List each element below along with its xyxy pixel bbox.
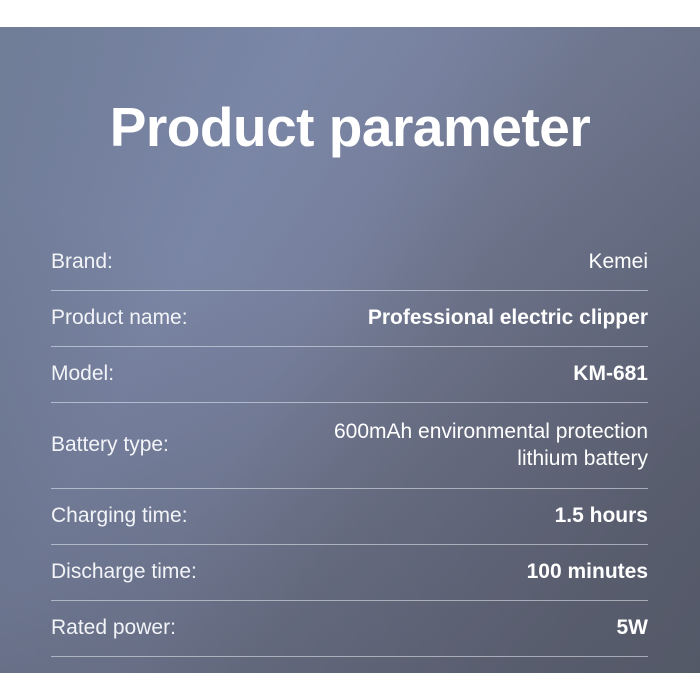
spec-value: 100 minutes — [209, 559, 648, 586]
table-row: Brand:Kemei — [51, 235, 648, 291]
product-parameter-panel: Product parameter Brand:KemeiProduct nam… — [0, 27, 700, 673]
spec-label: Charging time: — [51, 503, 200, 529]
table-row: Discharge time:100 minutes — [51, 545, 648, 601]
spec-label: Brand: — [51, 249, 125, 275]
spec-value: Kemei — [125, 249, 648, 276]
spec-label: Rated power: — [51, 615, 188, 641]
page-title: Product parameter — [0, 99, 700, 157]
spec-label: Battery type: — [51, 432, 181, 458]
spec-label: Model: — [51, 361, 126, 387]
specification-table: Brand:KemeiProduct name:Professional ele… — [51, 235, 648, 657]
spec-label: Discharge time: — [51, 559, 209, 585]
table-row: Rated power:5W — [51, 601, 648, 657]
spec-value: 5W — [188, 615, 648, 642]
table-row: Model:KM-681 — [51, 347, 648, 403]
table-row: Battery type:600mAh environmental protec… — [51, 403, 648, 489]
spec-label: Product name: — [51, 305, 200, 331]
table-row: Product name:Professional electric clipp… — [51, 291, 648, 347]
spec-value: KM-681 — [126, 361, 648, 388]
table-row: Charging time:1.5 hours — [51, 489, 648, 545]
spec-value: 1.5 hours — [200, 503, 648, 530]
spec-value: Professional electric clipper — [200, 305, 648, 332]
spec-value: 600mAh environmental protection lithium … — [318, 419, 648, 473]
